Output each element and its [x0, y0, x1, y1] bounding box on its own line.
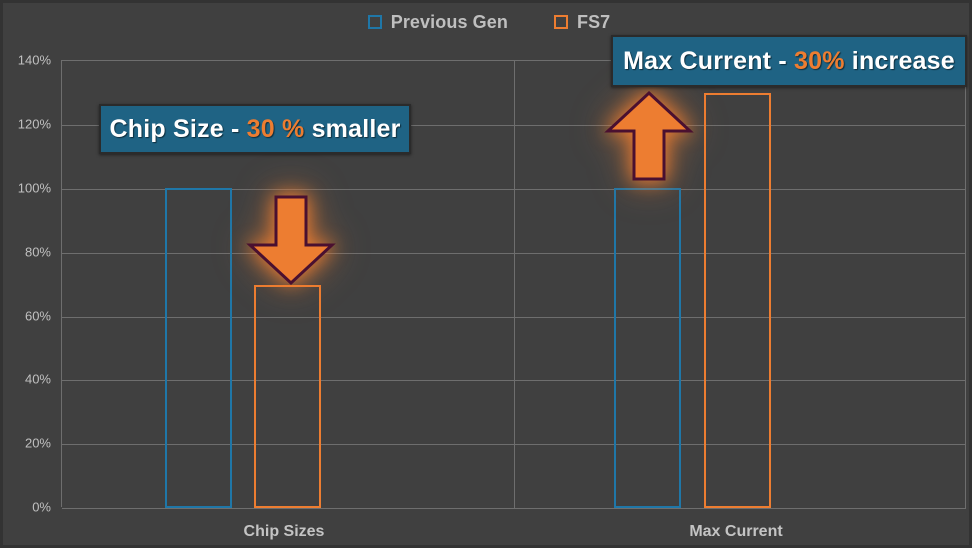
bar-max-current-previous-gen[interactable] — [614, 188, 681, 508]
x-tick-label-chip-sizes: Chip Sizes — [244, 523, 325, 541]
bar-chip-sizes-previous-gen[interactable] — [165, 188, 232, 508]
up-arrow-icon — [603, 89, 695, 183]
bar-chip-sizes-fs7[interactable] — [254, 285, 321, 508]
square-outline-icon — [554, 15, 568, 29]
gridline-0 — [62, 508, 966, 509]
y-tick-label: 140% — [3, 53, 51, 68]
y-tick-label: 20% — [3, 436, 51, 451]
x-tick-label-max-current: Max Current — [689, 523, 782, 541]
down-arrow-icon — [245, 193, 337, 287]
chip-size-callout-prefix: Chip Size - — [109, 115, 246, 143]
category-separator — [514, 61, 515, 508]
plot-right-edge — [965, 61, 966, 508]
y-tick-label: 0% — [3, 500, 51, 515]
legend-item-fs7[interactable]: FS7 — [554, 12, 610, 33]
max-current-callout-prefix: Max Current - — [623, 47, 794, 75]
chip-size-callout-text: Chip Size - 30 % smaller — [109, 115, 400, 144]
legend-label-fs7: FS7 — [577, 12, 610, 33]
max-current-callout[interactable]: Max Current - 30% increase — [611, 35, 967, 87]
y-tick-label: 100% — [3, 181, 51, 196]
max-current-callout-suffix: increase — [845, 47, 955, 75]
y-tick-label: 40% — [3, 372, 51, 387]
chip-size-callout-suffix: smaller — [304, 115, 400, 143]
chip-size-callout[interactable]: Chip Size - 30 % smaller — [99, 104, 411, 154]
chart-canvas: Previous Gen FS7 140% 120% 100% 80% 60% … — [0, 0, 972, 548]
y-tick-label: 60% — [3, 309, 51, 324]
bar-max-current-fs7[interactable] — [704, 93, 771, 508]
legend-label-previous-gen: Previous Gen — [391, 12, 508, 33]
chip-size-callout-highlight: 30 % — [247, 115, 305, 143]
legend-item-previous-gen[interactable]: Previous Gen — [368, 12, 508, 33]
max-current-callout-text: Max Current - 30% increase — [623, 47, 955, 76]
max-current-callout-highlight: 30% — [794, 47, 845, 75]
y-tick-label: 80% — [3, 245, 51, 260]
y-tick-label: 120% — [3, 117, 51, 132]
chart-legend: Previous Gen FS7 — [3, 7, 972, 37]
square-outline-icon — [368, 15, 382, 29]
